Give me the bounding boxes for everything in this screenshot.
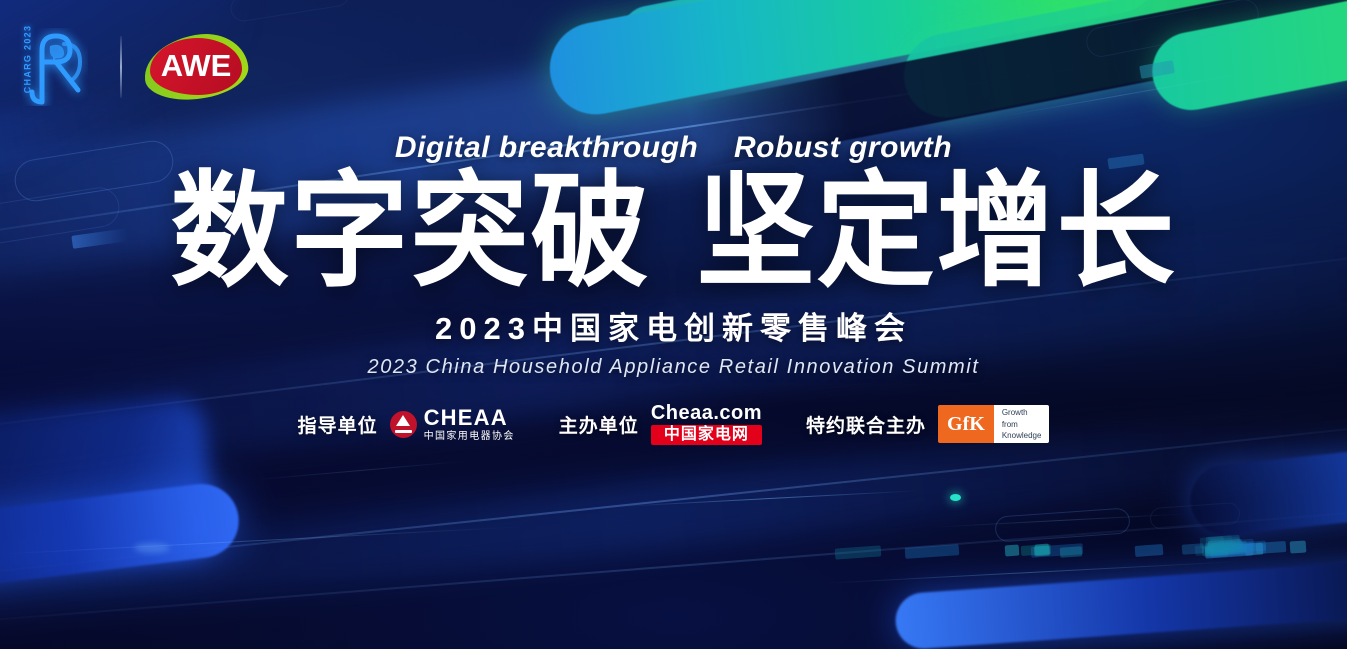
glow-pill-bottom-left (0, 480, 243, 605)
chip-bottom-center-4 (1205, 541, 1236, 553)
chip-bottom-center-13 (1211, 543, 1238, 555)
awe-logo[interactable]: AWE (144, 35, 248, 99)
cheaa-sub-text: 中国家用电器协会 (424, 432, 515, 442)
sponsor-group-organizer: 主办单位 Cheaa.com 中国家电网 (559, 403, 762, 445)
gfk-tagline-block: Growth from Knowledge (994, 405, 1050, 443)
awe-logo-text: AWE (144, 35, 248, 99)
gfk-logo[interactable]: GfK Growth from Knowledge (938, 405, 1049, 443)
chip-bottom-center-1 (1005, 545, 1020, 557)
glow-line-5 (250, 460, 469, 480)
cheaa-com-logo[interactable]: Cheaa.com 中国家电网 (651, 403, 762, 445)
chip-bottom-center-18 (1182, 543, 1205, 555)
chip-bottom-center-8 (1034, 545, 1051, 556)
charg-r-icon (22, 28, 88, 106)
poster-canvas: CHARG 2023 AWE Digital breakthrough Robu… (0, 0, 1347, 649)
header-logo-bar: CHARG 2023 AWE (0, 0, 248, 110)
sponsor-group-coorganizer: 特约联合主办 GfK Growth from Knowledge (806, 405, 1049, 443)
subtitle-chinese: 2023中国家电创新零售峰会 (0, 303, 1347, 348)
chip-bottom-center-10 (1135, 544, 1164, 557)
chip-bottom-left-5 (1200, 536, 1225, 549)
glow-line-3 (820, 561, 1239, 584)
chip-bottom-center-12 (1205, 545, 1230, 557)
cheaa-logo[interactable]: CHEAA 中国家用电器协会 (390, 407, 515, 442)
chip-bottom-center-15 (1228, 544, 1267, 557)
glow-line-1 (620, 490, 920, 507)
main-title: 数字突破坚定增长 (0, 167, 1347, 295)
gfk-main-text: GfK (938, 405, 994, 443)
chip-bottom-right-6 (1202, 543, 1247, 556)
chip-teal-2 (1206, 544, 1241, 556)
chip-bottom-left-6 (1195, 544, 1224, 556)
cheaa-com-sub-text: 中国家电网 (651, 425, 762, 445)
chip-bottom-center-16 (1060, 546, 1083, 558)
chip-bottom-center-3 (1208, 539, 1243, 551)
cheaa-com-main-text: Cheaa.com (651, 403, 762, 423)
chip-bottom-left-7 (1210, 542, 1231, 553)
diagonal-edge-line-4 (0, 491, 1347, 630)
chip-bottom-left-9 (1215, 543, 1256, 557)
wireframe-pill-bottom-2 (1149, 502, 1240, 530)
main-title-part2: 坚定增长 (697, 158, 1177, 304)
chip-bottom-right-2 (1245, 542, 1264, 555)
glow-pill-bottom-right (894, 556, 1347, 649)
logo-divider (120, 36, 122, 98)
glow-line-4 (930, 513, 1190, 528)
chip-bottom-right-1 (1205, 543, 1254, 558)
gfk-tagline-line2: from (1002, 419, 1042, 430)
subtitle-english: 2023 China Household Appliance Retail In… (0, 356, 1347, 379)
chip-bottom-left-3 (1206, 535, 1241, 549)
chip-bottom-left-1 (905, 544, 960, 559)
chip-bottom-center-17 (1256, 541, 1287, 554)
chip-bottom-center-6 (1218, 539, 1255, 552)
glow-line-2 (0, 526, 519, 554)
chip-bottom-center-7 (1031, 543, 1084, 558)
chip-bottom-right-4 (1205, 543, 1254, 558)
gfk-tagline-line1: Growth (1002, 407, 1042, 418)
chip-bottom-left-8 (1208, 535, 1233, 547)
gfk-tagline-line3: Knowledge (1002, 430, 1042, 441)
chip-bottom-center-14 (1210, 541, 1255, 554)
sponsor-bar: 指导单位 CHEAA 中国家用电器协会 主办单位 Cheaa.com 中国家电网 (0, 403, 1347, 445)
cheaa-text-block: CHEAA 中国家用电器协会 (424, 407, 515, 442)
sponsor-group-guidance: 指导单位 CHEAA 中国家用电器协会 (298, 407, 515, 442)
chip-bottom-center-19 (1210, 547, 1229, 557)
cheaa-mark-icon (390, 411, 417, 438)
chip-bottom-center-5 (1222, 540, 1267, 553)
chip-bottom-center-2 (1035, 544, 1050, 556)
chip-bottom-right-5 (1207, 541, 1248, 555)
glow-dot-teal (950, 494, 961, 501)
chip-bottom-center-11 (1222, 542, 1245, 555)
chip-teal-3 (1205, 546, 1234, 557)
chip-bottom-right-3 (1290, 540, 1307, 553)
main-title-part1: 数字突破 (170, 158, 650, 304)
chip-bottom-left-2 (835, 545, 882, 559)
chip-teal-1 (1205, 542, 1246, 555)
wireframe-pill-bottom-1 (994, 507, 1130, 542)
sponsor-label-guidance: 指导单位 (298, 411, 378, 438)
chip-bottom-left-10 (1205, 546, 1224, 556)
charg-2023-logo[interactable]: CHARG 2023 (6, 24, 98, 110)
glow-dot-blue (134, 543, 170, 553)
chip-bottom-center-9 (1021, 544, 1052, 556)
cheaa-main-text: CHEAA (424, 407, 515, 429)
sponsor-label-organizer: 主办单位 (559, 411, 639, 438)
chip-bottom-left-4 (1210, 537, 1241, 551)
sponsor-label-coorganizer: 特约联合主办 (806, 411, 926, 438)
glow-pill-right (1187, 442, 1347, 539)
